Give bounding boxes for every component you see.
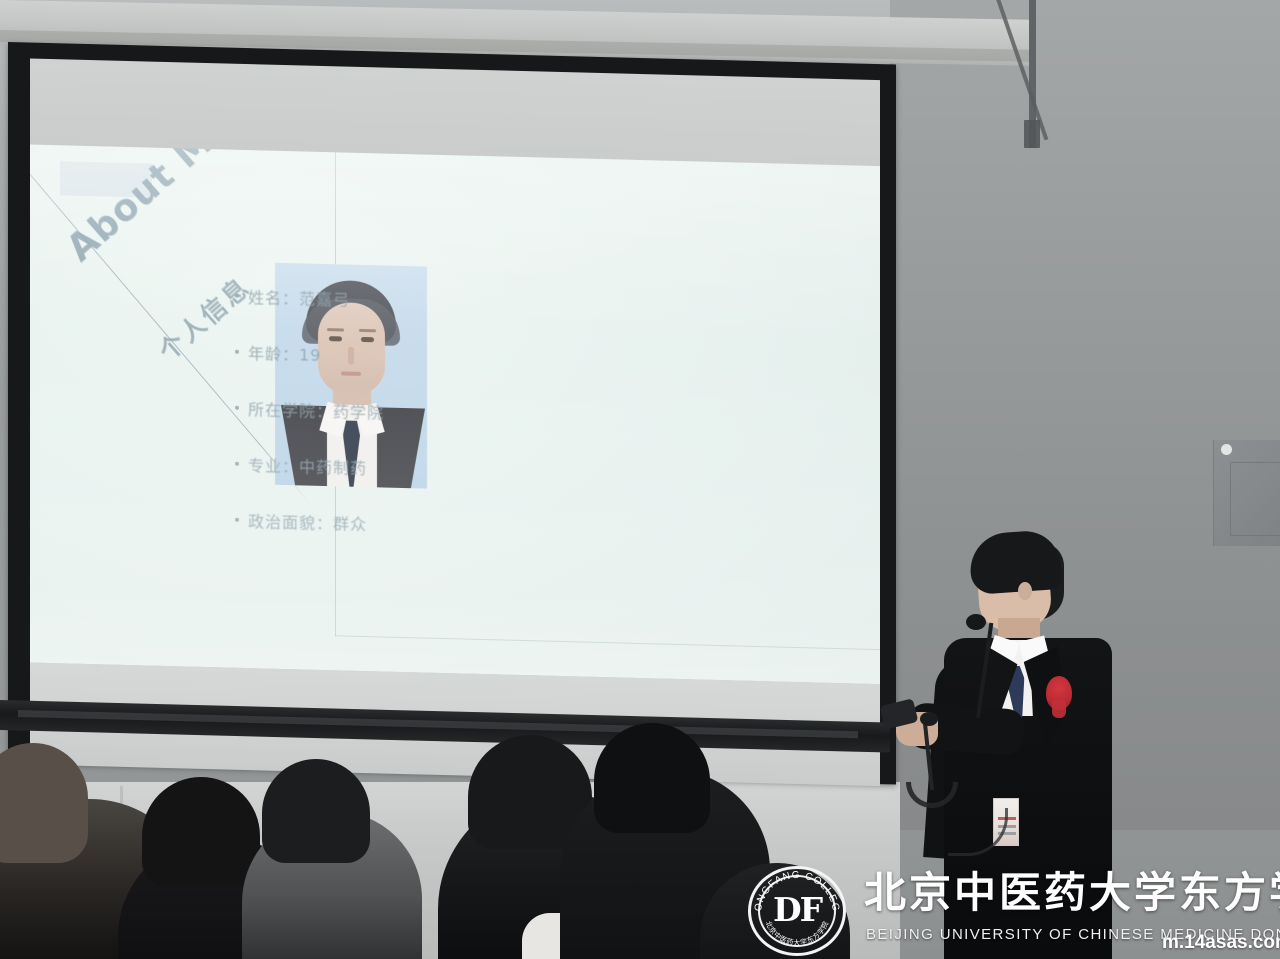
site-watermark: m.14asas.com — [1162, 932, 1280, 954]
logo-monogram: DF — [748, 893, 846, 926]
list-item: 政治面貌：群众 — [235, 492, 555, 556]
bullet-text: 专业：中药制药 — [248, 452, 367, 479]
audience-head — [594, 723, 710, 833]
bullet-dot-icon — [235, 518, 239, 522]
bullet-text: 年龄：19 — [248, 340, 321, 366]
presenter-hair — [968, 529, 1062, 595]
presenter-flower-ribbon — [1052, 700, 1066, 718]
projection-screen-surface: About Me 个人信息 — [30, 59, 880, 771]
projection-screen-frame: About Me 个人信息 — [8, 42, 896, 784]
list-item: 年龄：19 — [235, 324, 555, 388]
bullet-dot-icon — [235, 294, 239, 298]
bullet-dot-icon — [235, 350, 239, 354]
microphone-head-lower — [920, 712, 938, 726]
list-item: 专业：中药制药 — [235, 436, 555, 500]
screen-mount-bracket-foot — [1024, 120, 1040, 148]
wall-panel-inner-frame — [1230, 462, 1280, 536]
audience-head — [262, 759, 370, 863]
audience-head — [142, 777, 260, 887]
bullet-text: 姓名：范嘉弓 — [248, 284, 350, 311]
projected-slide: About Me 个人信息 — [30, 145, 880, 685]
presenter-ear — [1018, 582, 1032, 600]
university-logo: DONGFANG COLLEGE 北京中医药大学东方学院 DF — [748, 866, 846, 956]
bullet-dot-icon — [235, 406, 239, 410]
slide-bullet-list: 姓名：范嘉弓 年龄：19 所在学院：药学院 专业：中药制药 — [235, 268, 555, 556]
bullet-dot-icon — [235, 462, 239, 466]
presentation-photo-scene: About Me 个人信息 — [0, 0, 1280, 959]
list-item: 所在学院：药学院 — [235, 380, 555, 444]
bullet-text: 所在学院：药学院 — [248, 396, 384, 423]
university-name-zh: 北京中医药大学东方学院 — [864, 868, 1280, 918]
microphone-head-upper — [966, 614, 986, 630]
wall-control-panel — [1213, 440, 1280, 546]
list-item: 姓名：范嘉弓 — [235, 268, 555, 332]
wall-panel-indicator — [1221, 444, 1232, 455]
slide-horizontal-divider — [335, 635, 880, 650]
bullet-text: 政治面貌：群众 — [248, 508, 367, 535]
